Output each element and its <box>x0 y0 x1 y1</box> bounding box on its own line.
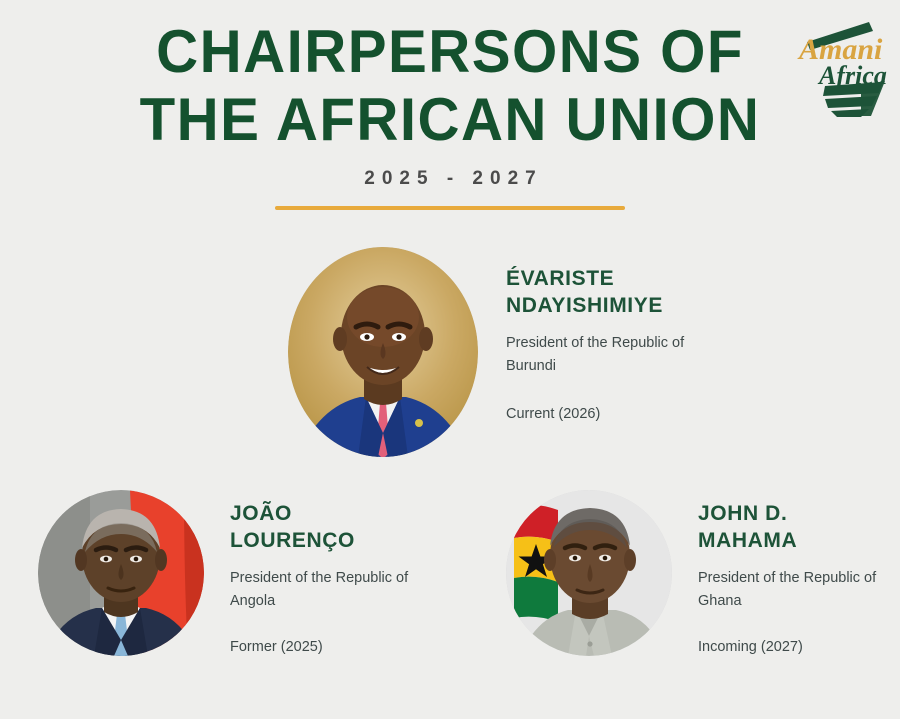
header-divider <box>275 206 625 210</box>
person-name: ÉVARISTE NDAYISHIMIYE <box>506 265 721 319</box>
person-card-left: JOÃO LOURENÇO President of the Republic … <box>38 490 445 657</box>
person-info: JOÃO LOURENÇO President of the Republic … <box>204 490 445 657</box>
person-card-featured: ÉVARISTE NDAYISHIMIYE President of the R… <box>288 247 721 457</box>
person-role: President of the Republic of Burundi <box>506 332 721 378</box>
person-name: JOHN D. MAHAMA <box>698 500 900 554</box>
infographic-canvas: Amani Africa CHAIRPERSONS OF THE AFRICAN… <box>0 0 900 719</box>
avatar <box>288 247 478 457</box>
page-subtitle-years: 2025 - 2027 <box>0 168 900 190</box>
page-title-line-2: THE AFRICAN UNION <box>14 86 887 154</box>
avatar <box>506 490 672 656</box>
page-title-line-1: CHAIRPERSONS OF <box>14 18 887 86</box>
person-name: JOÃO LOURENÇO <box>230 500 445 554</box>
page-header: CHAIRPERSONS OF THE AFRICAN UNION 2025 -… <box>0 18 900 210</box>
person-status: Incoming (2027) <box>698 637 900 657</box>
person-role: President of the Republic of Angola <box>230 567 445 613</box>
person-role: President of the Republic of Ghana <box>698 567 900 613</box>
person-status: Former (2025) <box>230 637 445 657</box>
person-status: Current (2026) <box>506 404 721 424</box>
person-info: ÉVARISTE NDAYISHIMIYE President of the R… <box>478 247 721 424</box>
person-info: JOHN D. MAHAMA President of the Republic… <box>672 490 900 657</box>
avatar <box>38 490 204 656</box>
person-card-right: JOHN D. MAHAMA President of the Republic… <box>506 490 900 657</box>
